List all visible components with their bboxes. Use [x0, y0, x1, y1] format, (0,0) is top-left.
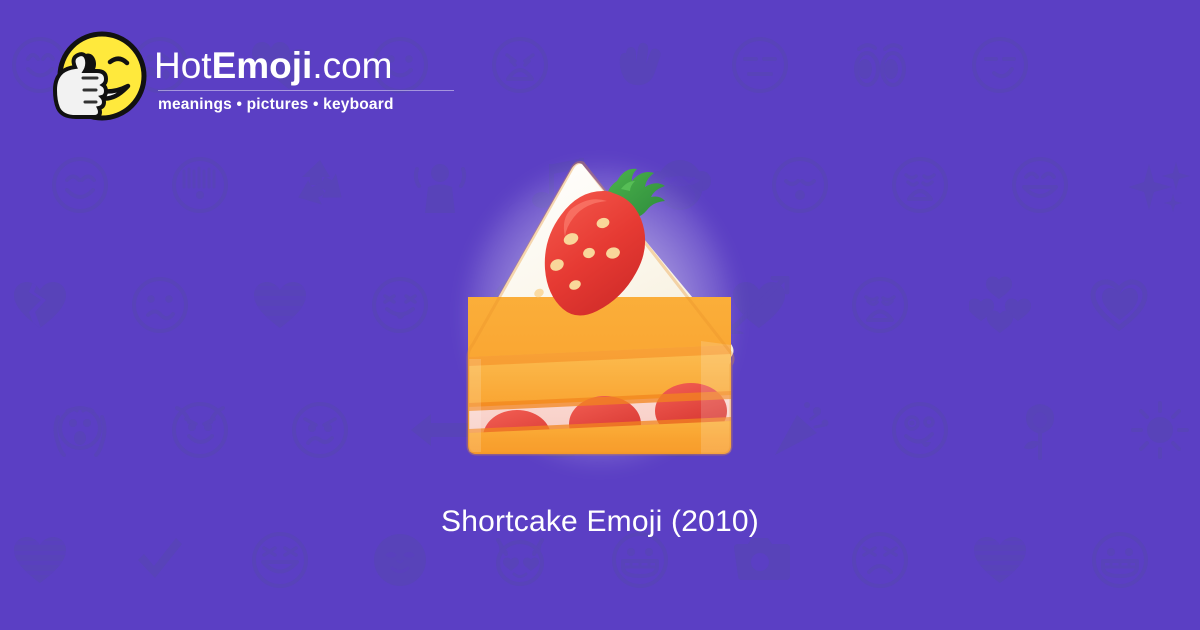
site-logo[interactable]: HotEmoji.com meanings • pictures • keybo… [38, 26, 454, 130]
waving-hand-icon [580, 20, 700, 110]
unamused-face-icon [700, 20, 820, 110]
wordmark: HotEmoji.com [154, 46, 454, 86]
shortcake-emoji-icon [455, 145, 745, 485]
logo-text-block: HotEmoji.com meanings • pictures • keybo… [154, 42, 454, 114]
hero-emoji-area [0, 130, 1200, 500]
page-title: Shortcake Emoji (2010) [0, 505, 1200, 539]
eyes-icon [820, 20, 940, 110]
anguished-face-icon [460, 20, 580, 110]
wordmark-hot: Hot [154, 45, 212, 86]
hero-emoji-glow [450, 145, 750, 485]
winking-smiley-thumbs-up-logo-icon [38, 26, 150, 130]
smirking-face-icon [940, 20, 1060, 110]
logo-divider [158, 90, 454, 91]
wordmark-dotcom: .com [312, 45, 392, 86]
og-image-card: HotEmoji.com meanings • pictures • keybo… [0, 0, 1200, 630]
wordmark-emoji: Emoji [212, 45, 313, 86]
logo-tagline: meanings • pictures • keyboard [158, 96, 454, 114]
